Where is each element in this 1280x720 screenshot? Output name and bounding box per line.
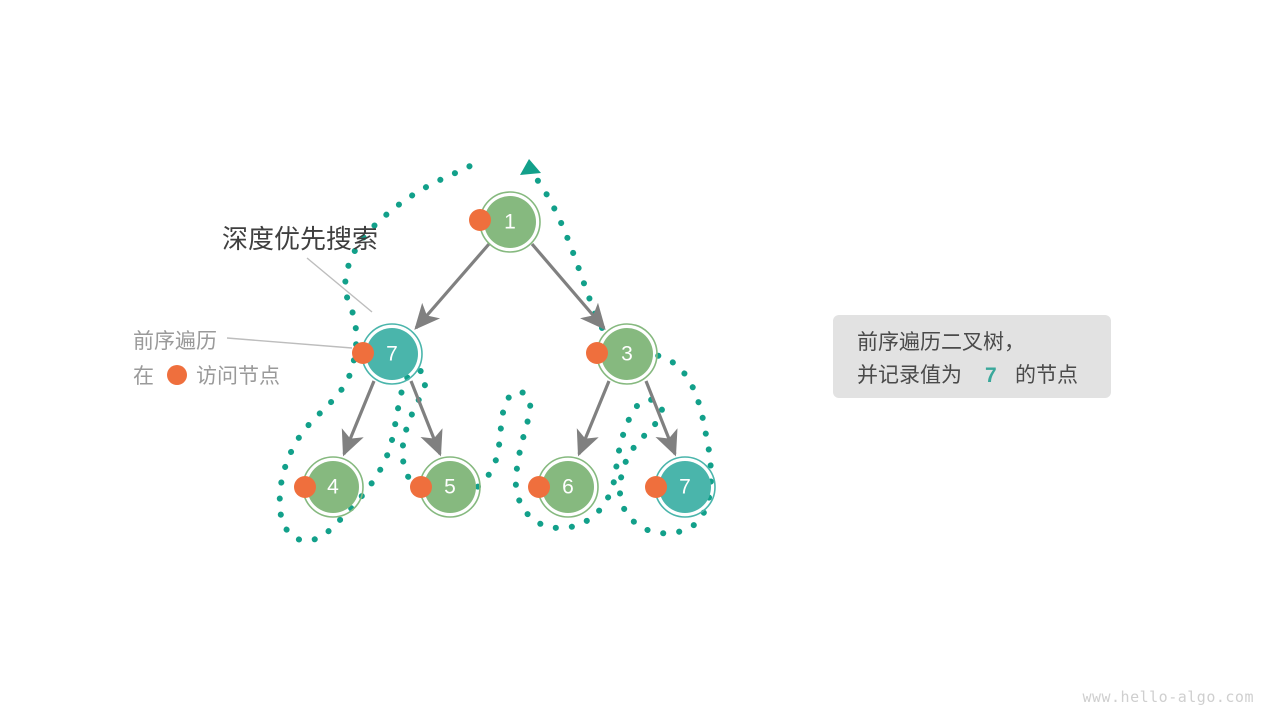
tree-node-7-left[interactable]: 7	[352, 324, 422, 384]
visit-dot-3	[586, 342, 608, 364]
edge-1-7	[416, 244, 489, 328]
watermark: www.hello-algo.com	[1082, 688, 1254, 706]
note-line-2-value: 7	[985, 364, 997, 387]
visit-dot-7-left	[352, 342, 374, 364]
tree-node-1[interactable]: 1	[469, 192, 540, 252]
node-value-1: 1	[504, 211, 516, 234]
visit-dot-1	[469, 209, 491, 231]
visit-dot-7-right	[645, 476, 667, 498]
tree-node-5[interactable]: 5	[410, 457, 480, 517]
edge-7-5	[411, 381, 440, 454]
edge-3-6	[579, 381, 609, 454]
dfs-preorder-diagram: 1 7 3 4	[0, 0, 1280, 720]
edge-7-4	[344, 381, 374, 454]
edge-3-7	[646, 381, 675, 454]
tree-node-3[interactable]: 3	[586, 324, 657, 384]
legend-line-2-suffix: 访问节点	[196, 365, 280, 388]
node-value-7-left: 7	[386, 343, 398, 366]
node-value-5: 5	[444, 476, 456, 499]
note-line-2-after: 的节点	[1015, 364, 1078, 387]
legend-line-2-prefix: 在	[133, 365, 154, 388]
note-box: 前序遍历二叉树， 并记录值为 7 的节点	[833, 315, 1111, 398]
visit-marker-dot-icon	[167, 365, 187, 385]
node-value-7-right: 7	[679, 476, 691, 499]
page-title: 深度优先搜索	[222, 224, 378, 254]
tree-node-6[interactable]: 6	[528, 457, 598, 517]
leader-lines	[227, 258, 372, 348]
note-line-2-before: 并记录值为	[857, 364, 962, 387]
visit-dot-5	[410, 476, 432, 498]
traversal-direction-arrow	[520, 159, 541, 175]
note-line-1: 前序遍历二叉树，	[857, 331, 1025, 354]
node-value-6: 6	[562, 476, 574, 499]
visit-dot-6	[528, 476, 550, 498]
edge-1-3	[532, 244, 604, 328]
figure-canvas: 1 7 3 4	[0, 0, 1280, 720]
leader-line-legend	[227, 338, 352, 348]
node-value-4: 4	[327, 476, 339, 499]
node-value-3: 3	[621, 343, 633, 366]
tree-node-7-right[interactable]: 7	[645, 457, 715, 517]
visit-dot-4	[294, 476, 316, 498]
leader-line-title	[307, 258, 372, 312]
legend-line-1: 前序遍历	[133, 330, 217, 353]
